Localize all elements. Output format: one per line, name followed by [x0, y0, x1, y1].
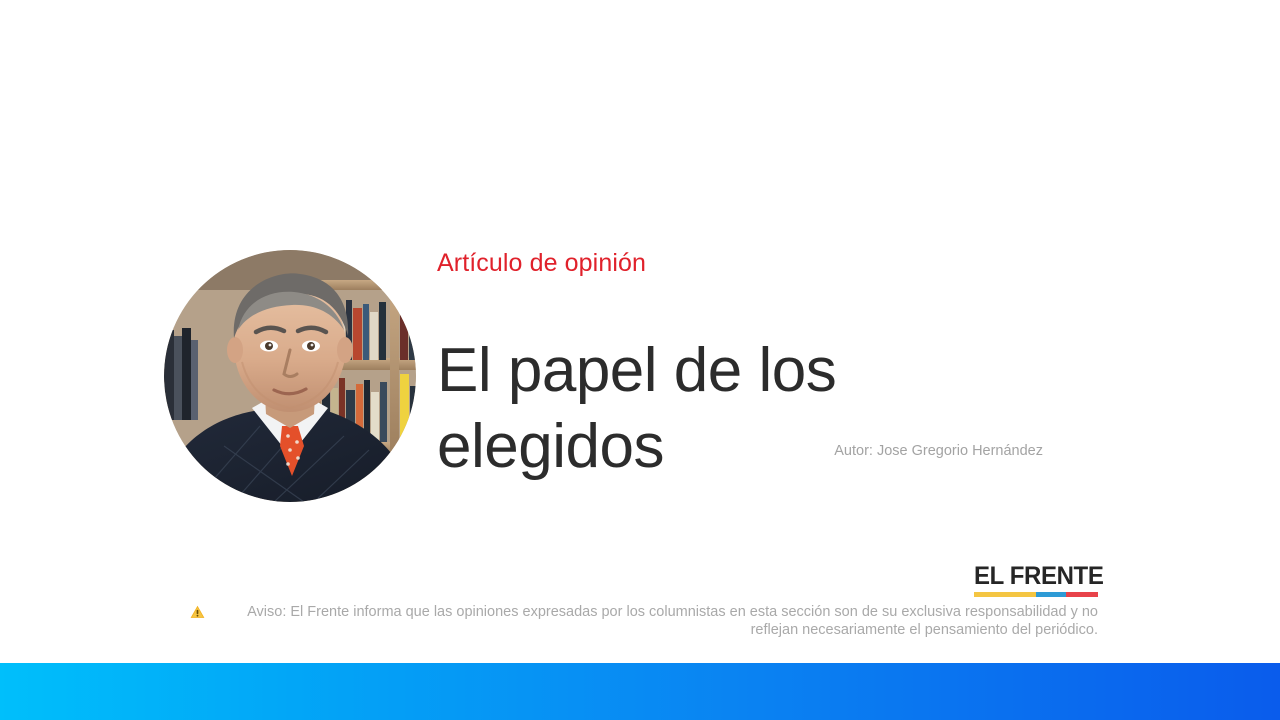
logo-wordmark: EL FRENTE: [974, 563, 1093, 589]
logo-bar-yellow: [974, 592, 1036, 597]
el-frente-logo: EL FRENTE: [974, 563, 1098, 597]
logo-tricolor-bar: [974, 592, 1098, 597]
author-portrait: [164, 250, 416, 502]
warning-icon: [190, 605, 205, 624]
disclaimer: Aviso: El Frente informa que las opinion…: [190, 603, 1098, 639]
logo-bar-red: [1066, 592, 1098, 597]
logo-bar-blue: [1036, 592, 1066, 597]
article-author: Autor: Jose Gregorio Hernández: [537, 441, 1043, 461]
article-headline: El papel de los elegidos: [437, 333, 957, 485]
opinion-article-slide: Artículo de opinión El papel de los eleg…: [0, 0, 1280, 720]
portrait-image: [164, 250, 416, 502]
bottom-gradient-band: [0, 663, 1280, 720]
article-kicker: Artículo de opinión: [437, 248, 646, 278]
disclaimer-text: Aviso: El Frente informa que las opinion…: [212, 603, 1098, 639]
